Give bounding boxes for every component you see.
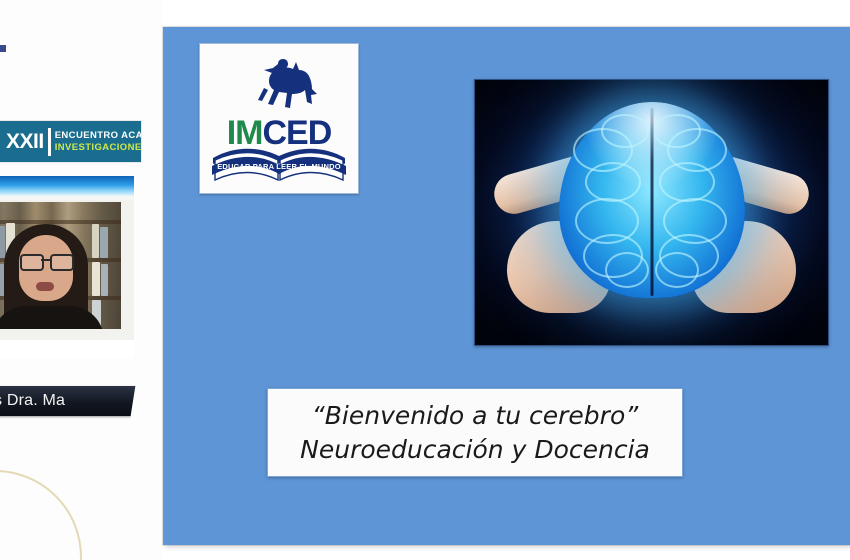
webcam-top-glow (0, 176, 134, 196)
event-banner-line2: INVESTIGACIONES (55, 142, 141, 154)
glasses-bridge (41, 259, 50, 261)
imced-logo-card: IMCED EDUCAR PARA LEER EL MUNDO (199, 43, 359, 194)
brain-gyrus (655, 252, 699, 288)
brain-gyrus (601, 114, 649, 148)
imced-tagline: EDUCAR PARA LEER EL MUNDO (206, 162, 352, 171)
event-banner-line1: ENCUENTRO ACADÉM (55, 130, 141, 142)
event-banner-divider (48, 128, 51, 156)
glasses-icon (19, 254, 73, 267)
book (92, 262, 100, 296)
screen-root: XXII ENCUENTRO ACADÉM INVESTIGACIONES (0, 0, 850, 560)
brain-gyrus (653, 114, 701, 148)
shared-slide[interactable]: IMCED EDUCAR PARA LEER EL MUNDO (163, 27, 850, 545)
book (100, 227, 108, 258)
glasses-lens-right (50, 254, 74, 271)
webcam-tile[interactable] (0, 176, 134, 358)
brain-gyrus (605, 252, 649, 288)
presenter-name-label: s Dra. Ma (0, 392, 65, 410)
slide-title-line2: Neuroeducación y Docencia (300, 433, 650, 467)
presenter-body (0, 306, 104, 329)
event-banner-roman-numeral: XXII (0, 131, 48, 152)
horseman-statue-icon (231, 58, 327, 122)
event-banner-lines: ENCUENTRO ACADÉM INVESTIGACIONES (55, 130, 141, 154)
presenter-mouth (36, 282, 54, 291)
bookshelf-shelf (0, 220, 121, 224)
name-bar-occluder (148, 386, 163, 418)
webcam-video-feed[interactable] (0, 202, 121, 329)
book (92, 224, 99, 258)
corner-mark-icon (0, 45, 6, 52)
brain-in-hands-image (474, 79, 829, 346)
imced-logo-graphic: IMCED EDUCAR PARA LEER EL MUNDO (206, 50, 352, 187)
slide-title-box: “Bienvenido a tu cerebro” Neuroeducación… (267, 388, 683, 477)
slide-title-line1: “Bienvenido a tu cerebro” (312, 399, 638, 433)
book (0, 226, 5, 258)
event-banner: XXII ENCUENTRO ACADÉM INVESTIGACIONES (0, 121, 141, 162)
brain-graphic (559, 102, 745, 298)
decorative-gold-arc (0, 470, 82, 560)
book (101, 264, 108, 296)
brain-longitudinal-fissure (650, 108, 653, 296)
meeting-left-rail: XXII ENCUENTRO ACADÉM INVESTIGACIONES (0, 0, 163, 560)
glasses-lens-left (20, 254, 44, 271)
brain-gyrus (659, 162, 715, 202)
brain-gyrus (585, 162, 641, 202)
